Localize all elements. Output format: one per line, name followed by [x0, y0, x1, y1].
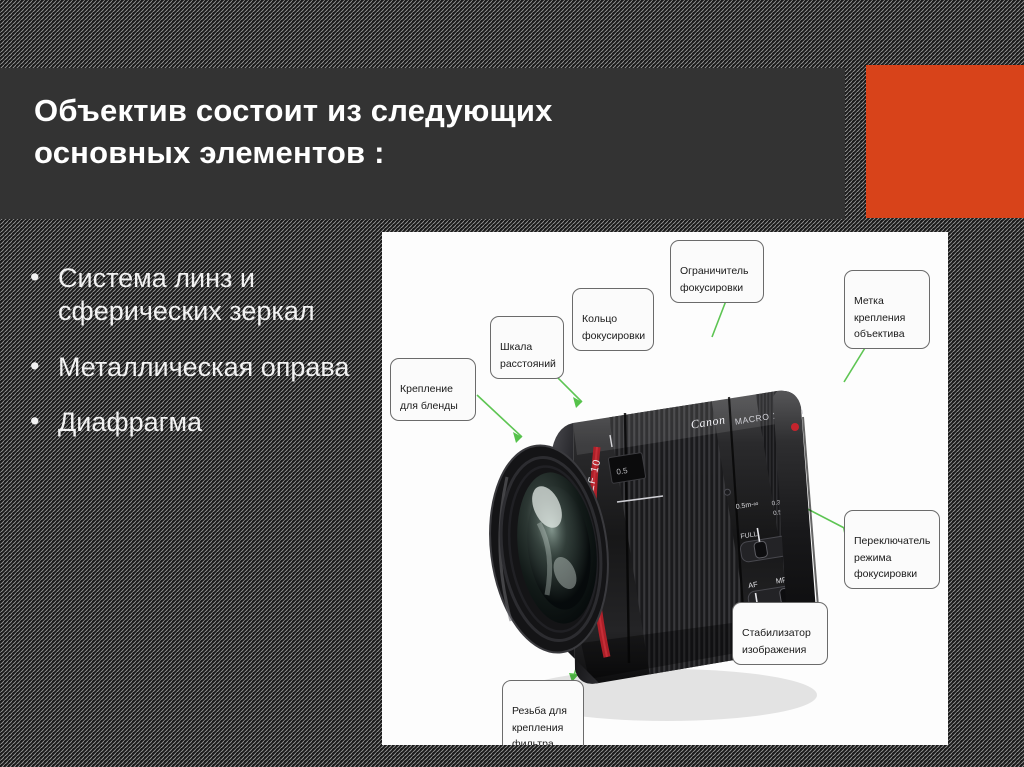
figure-panel: 0.5 CANON MACRO LENS EF 100mm — [382, 232, 948, 745]
callout-mount-mark[interactable]: Метка крепления объектива — [844, 270, 930, 349]
svg-text:0.5: 0.5 — [616, 466, 629, 477]
callout-focus-mode[interactable]: Переключатель режима фокусировки — [844, 510, 940, 589]
list-item: • Система линз и сферических зеркал — [24, 262, 364, 329]
callout-label: Метка крепления объектива — [854, 295, 905, 340]
callout-label: Резьба для крепления фильтра — [512, 705, 567, 745]
callout-distance-scale[interactable]: Шкала расстояний — [490, 316, 564, 379]
callout-filter-thread[interactable]: Резьба для крепления фильтра — [502, 680, 584, 745]
lens-illustration: 0.5 CANON MACRO LENS EF 100mm — [477, 327, 837, 727]
callout-hood-mount[interactable]: Крепление для бленды — [390, 358, 476, 421]
accent-block — [866, 65, 1024, 218]
svg-text:AF: AF — [748, 580, 759, 590]
bullet-marker: • — [30, 261, 39, 294]
callout-label: Шкала расстояний — [500, 341, 556, 369]
callout-label: Стабилизатор изображения — [742, 627, 811, 655]
list-item: • Диафрагма — [24, 406, 364, 439]
list-item-label: Диафрагма — [58, 407, 202, 437]
list-item-label: Металлическая оправа — [58, 352, 349, 382]
callout-label: Кольцо фокусировки — [582, 313, 645, 341]
bullet-marker: • — [30, 405, 39, 438]
bullet-marker: • — [30, 350, 39, 383]
list-item-label: Система линз и сферических зеркал — [58, 263, 315, 326]
callout-stabilizer[interactable]: Стабилизатор изображения — [732, 602, 828, 665]
callout-label: Крепление для бленды — [400, 383, 458, 411]
callout-label: Ограничитель фокусировки — [680, 265, 748, 293]
callout-focus-ring[interactable]: Кольцо фокусировки — [572, 288, 654, 351]
list-item: • Металлическая оправа — [24, 351, 364, 384]
title-band: Объектив состоит из следующих основных э… — [0, 68, 845, 219]
slide-canvas: Объектив состоит из следующих основных э… — [0, 0, 1024, 767]
page-title: Объектив состоит из следующих основных э… — [34, 90, 805, 175]
bullet-list: • Система линз и сферических зеркал • Ме… — [24, 262, 364, 462]
callout-focus-limiter[interactable]: Ограничитель фокусировки — [670, 240, 764, 303]
callout-label: Переключатель режима фокусировки — [854, 535, 930, 580]
